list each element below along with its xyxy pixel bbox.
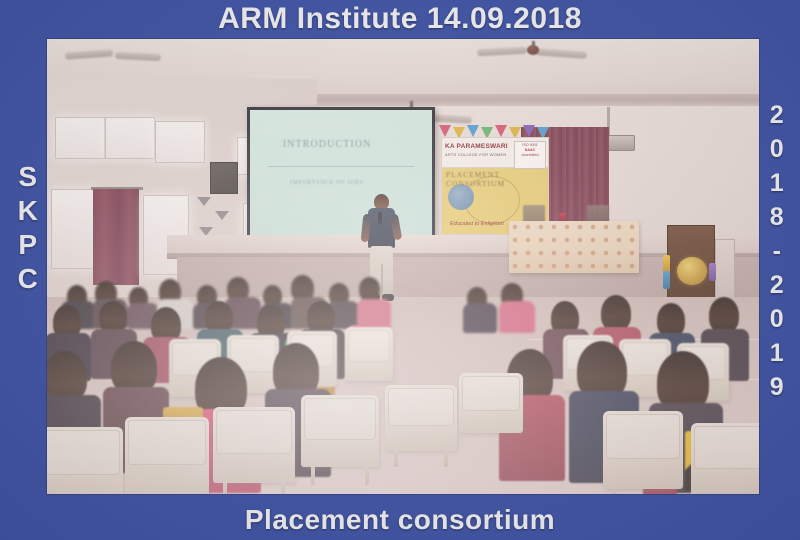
attendee-head	[359, 277, 380, 301]
chair-leg	[365, 463, 369, 485]
slide-title: INTRODUCTION	[283, 139, 372, 150]
bottom-caption: Placement consortium	[0, 504, 800, 536]
left-label-char: S	[8, 160, 48, 194]
chair-leg	[311, 463, 315, 485]
naac-accreditation-badge: ISO 9001 NAAC Accredited	[514, 141, 546, 169]
page-title: ARM Institute 14.09.2018	[0, 2, 800, 36]
framed-photo: INTRODUCTION IMPORTANCE OF JOBS KA PARAM…	[0, 0, 800, 540]
ceiling-fan	[65, 45, 161, 61]
chair-back	[216, 410, 292, 454]
right-label-char: -	[760, 234, 794, 268]
chair	[47, 427, 123, 494]
attendee-head	[657, 303, 685, 337]
window	[55, 117, 105, 159]
draped-table	[509, 221, 639, 273]
right-label-char: 8	[760, 200, 794, 234]
window	[105, 117, 155, 159]
chair-leg	[281, 479, 285, 494]
microphone-icon	[378, 212, 382, 224]
banner-college-name: KA PARAMESWARI	[445, 143, 508, 150]
chair-back	[606, 414, 680, 459]
banner-motto: Educated to Enlighten	[450, 221, 504, 227]
banner-event-title: PLACEMENT CONSORTIUM	[446, 170, 548, 188]
window	[51, 189, 99, 269]
wall-speaker-icon	[210, 162, 238, 194]
chair-leg	[135, 491, 139, 494]
attendee-torso	[463, 303, 497, 333]
banner-emblem-icon	[448, 184, 474, 210]
wall-decal-icon	[197, 197, 211, 206]
left-label-char: P	[8, 228, 48, 262]
attendee-torso	[499, 301, 535, 333]
chair-back	[128, 420, 206, 465]
chair-back	[47, 430, 120, 475]
chair-leg	[223, 479, 227, 494]
right-vertical-label: 2 0 1 8 - 2 0 1 9	[760, 98, 794, 404]
right-label-char: 2	[760, 98, 794, 132]
chair-leg	[613, 485, 617, 494]
curtain	[93, 189, 139, 285]
chair-back	[304, 398, 376, 440]
right-label-char: 1	[760, 166, 794, 200]
slide-subtitle: IMPORTANCE OF JOBS	[290, 180, 364, 186]
left-vertical-label: S K P C	[8, 160, 48, 296]
ceiling-fan	[477, 41, 587, 61]
chair-leg	[444, 447, 448, 467]
chair	[125, 417, 209, 494]
chair	[213, 407, 295, 483]
left-label-char: C	[8, 262, 48, 296]
chair-back	[388, 388, 454, 426]
chair-leg	[394, 447, 398, 467]
chair-back	[694, 426, 759, 469]
event-photograph: INTRODUCTION IMPORTANCE OF JOBS KA PARAM…	[47, 39, 759, 494]
attendee-head	[601, 295, 631, 331]
attendee-head	[709, 297, 739, 333]
chair	[301, 395, 379, 467]
slide-divider	[268, 166, 414, 167]
chair	[385, 385, 457, 451]
right-label-char: 2	[760, 268, 794, 302]
wall-decal-icon	[215, 211, 229, 220]
chair-leg	[195, 491, 199, 494]
left-label-char: K	[8, 194, 48, 228]
right-label-char: 1	[760, 336, 794, 370]
chair	[691, 423, 759, 494]
right-label-char: 9	[760, 370, 794, 404]
right-label-char: 0	[760, 132, 794, 166]
naac-line-accredited: Accredited	[515, 153, 545, 158]
chair	[603, 411, 683, 489]
slide-surface: INTRODUCTION IMPORTANCE OF JOBS	[250, 110, 432, 240]
chair-back	[462, 376, 520, 411]
banner-college-subtitle: ARTS COLLEGE FOR WOMEN	[445, 152, 506, 157]
window	[155, 121, 205, 163]
chair	[459, 373, 523, 433]
right-label-char: 0	[760, 302, 794, 336]
projection-screen: INTRODUCTION IMPORTANCE OF JOBS	[247, 107, 435, 243]
